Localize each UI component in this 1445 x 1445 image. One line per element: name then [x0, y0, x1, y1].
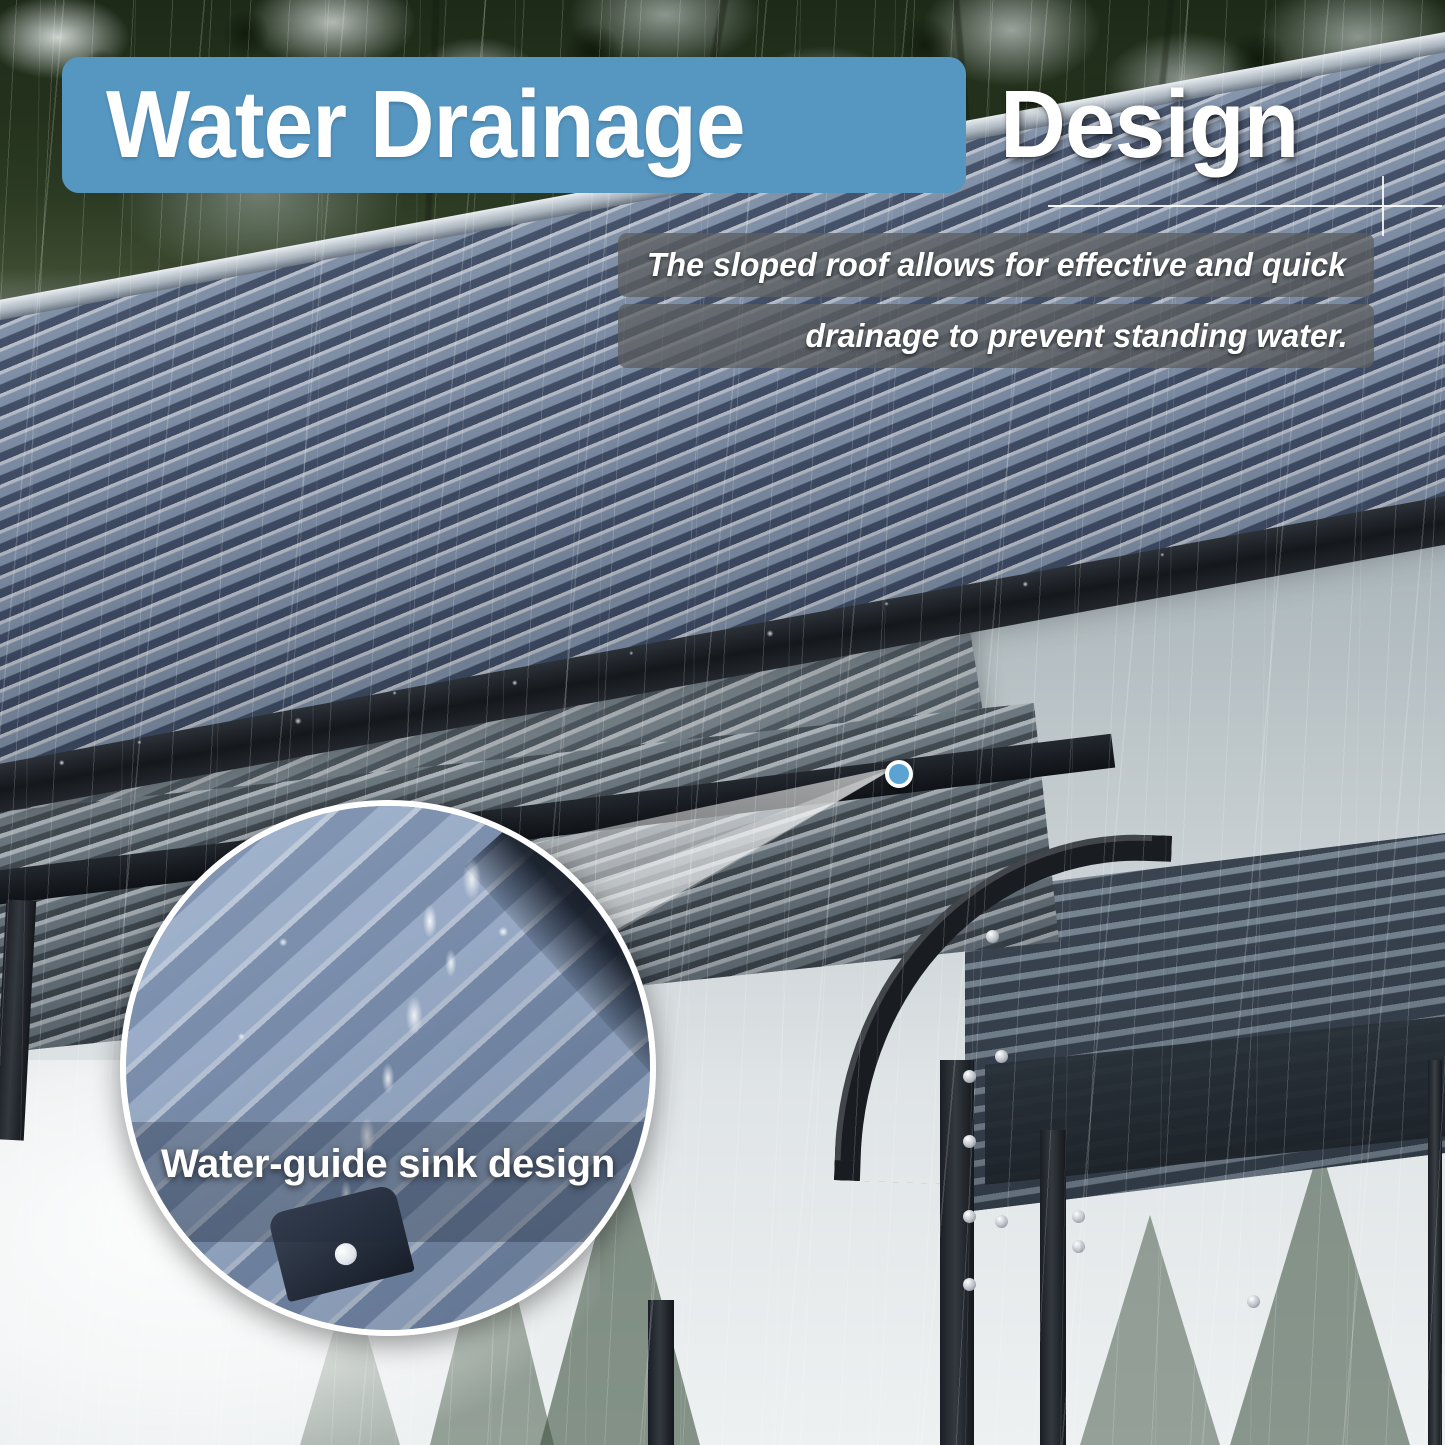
bolt-head: [1247, 1295, 1260, 1308]
bolt-head: [995, 1050, 1008, 1063]
bolt-head: [963, 1070, 976, 1083]
subtitle-text-line1: The sloped roof allows for effective and…: [647, 246, 1346, 284]
subtitle-text-line2: drainage to prevent standing water.: [805, 317, 1347, 355]
distant-tree: [1230, 1145, 1410, 1445]
product-feature-image: Water-guide sink design Water Drainage D…: [0, 0, 1445, 1445]
bolt-head: [1072, 1240, 1085, 1253]
bolt-head: [963, 1278, 976, 1291]
decor-vertical-tick: [1382, 176, 1384, 236]
headline-tail-text: Design: [1000, 60, 1298, 190]
distant-tree: [1080, 1215, 1220, 1445]
bolt-head: [986, 930, 999, 943]
bolt-head: [963, 1135, 976, 1148]
gazebo-post: [940, 1060, 974, 1445]
glass-frame-mullion: [1428, 1060, 1442, 1445]
subtitle-bar-line2: drainage to prevent standing water.: [618, 304, 1374, 368]
subtitle-bar-line1: The sloped roof allows for effective and…: [618, 233, 1374, 297]
gazebo-post: [1040, 1130, 1066, 1445]
bolt-head: [963, 1210, 976, 1223]
detail-magnifier-circle[interactable]: Water-guide sink design: [120, 800, 656, 1336]
gazebo-post: [648, 1300, 674, 1445]
hotspot-dot[interactable]: [885, 760, 913, 788]
magnifier-label: Water-guide sink design: [126, 1142, 650, 1187]
headline-badge-text: Water Drainage: [106, 77, 745, 173]
bolt-head: [995, 1215, 1008, 1228]
headline-badge: Water Drainage: [62, 57, 966, 193]
bolt-head: [1072, 1210, 1085, 1223]
